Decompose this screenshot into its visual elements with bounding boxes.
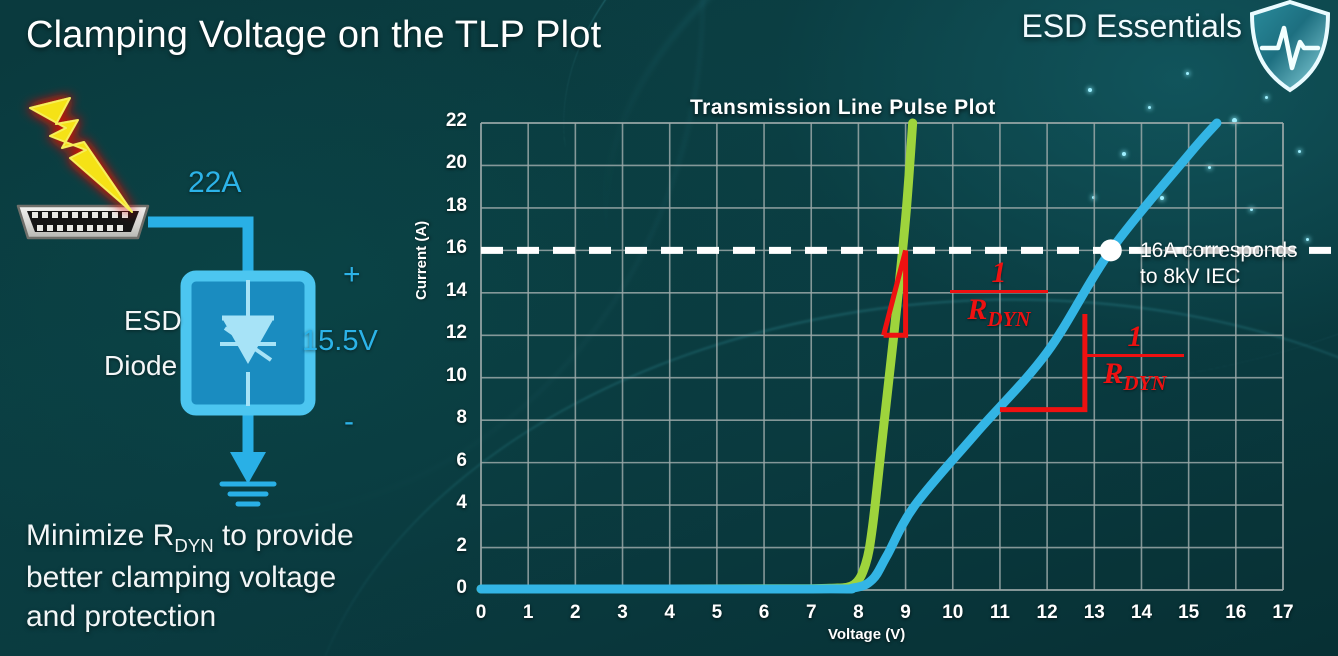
caption-line1-sub: DYN <box>174 535 213 556</box>
star-icon <box>1148 106 1151 109</box>
fraction-denominator-base: R <box>1103 357 1123 390</box>
x-tick-label: 2 <box>555 602 595 624</box>
x-tick-label: 5 <box>697 602 737 624</box>
x-tick-label: 14 <box>1121 602 1161 624</box>
fraction-numerator: 1 <box>950 258 1048 288</box>
background-swoosh-icon <box>522 0 1338 456</box>
x-tick-label: 1 <box>508 602 548 624</box>
series-curve <box>481 123 913 589</box>
x-tick-label: 11 <box>980 602 1020 624</box>
x-tick-label: 3 <box>603 602 643 624</box>
caption-line2: better clamping voltage <box>26 561 336 594</box>
slide-caption: Minimize RDYN to provide better clamping… <box>26 516 446 636</box>
slide-canvas: Clamping Voltage on the TLP Plot ESD Ess… <box>0 0 1338 656</box>
voltage-label: 15.5V <box>302 325 378 358</box>
annotation-16a-line2: to 8kV IEC <box>1140 264 1338 290</box>
star-icon <box>1250 208 1253 211</box>
caption-line1-post: to provide <box>214 519 354 552</box>
y-tick-label: 10 <box>419 365 467 387</box>
slope-bracket-green <box>884 250 906 335</box>
x-tick-label: 13 <box>1074 602 1114 624</box>
background-swoosh-glow-icon <box>548 0 1338 593</box>
caption-line3: and protection <box>26 600 216 633</box>
annotation-16a-line1: 16A corresponds <box>1140 238 1338 264</box>
fraction-bar <box>950 290 1048 293</box>
y-tick-label: 22 <box>419 110 467 132</box>
fraction-numerator: 1 <box>1086 322 1184 352</box>
y-tick-label: 6 <box>419 450 467 472</box>
y-tick-label: 20 <box>419 152 467 174</box>
x-tick-label: 4 <box>650 602 690 624</box>
caption-line1-pre: Minimize R <box>26 519 174 552</box>
x-tick-label: 16 <box>1216 602 1256 624</box>
hdmi-connector-icon <box>18 206 148 238</box>
x-tick-label: 6 <box>744 602 784 624</box>
y-tick-label: 16 <box>419 237 467 259</box>
polarity-minus-label: - <box>344 405 354 439</box>
lightning-bolt-icon <box>30 98 132 212</box>
x-tick-label: 15 <box>1169 602 1209 624</box>
marker-point-16a <box>1100 239 1122 261</box>
x-tick-label: 0 <box>461 602 501 624</box>
polarity-plus-label: + <box>343 258 361 292</box>
star-icon <box>1186 72 1189 75</box>
y-tick-label: 12 <box>419 322 467 344</box>
current-arrow-icon <box>230 452 266 484</box>
slope-annotation-blue: 1 RDYN <box>1086 322 1184 394</box>
current-label: 22A <box>188 166 241 200</box>
y-tick-label: 4 <box>419 492 467 514</box>
chart-title: Transmission Line Pulse Plot <box>690 96 996 120</box>
x-tick-label: 8 <box>838 602 878 624</box>
x-tick-label: 10 <box>933 602 973 624</box>
brand-title: ESD Essentials <box>1021 8 1242 45</box>
fraction-denominator-sub: DYN <box>987 307 1030 331</box>
fraction-denominator: RDYN <box>950 294 1048 330</box>
star-icon <box>1208 166 1211 169</box>
slope-annotation-green: 1 RDYN <box>950 258 1048 330</box>
y-tick-label: 2 <box>419 535 467 557</box>
x-tick-label: 12 <box>1027 602 1067 624</box>
star-icon <box>1088 88 1092 92</box>
star-icon <box>1298 150 1301 153</box>
star-icon <box>1232 118 1237 123</box>
x-tick-label: 17 <box>1263 602 1303 624</box>
device-label-line2: Diode <box>104 350 177 382</box>
fraction-denominator-base: R <box>967 293 987 326</box>
y-tick-label: 0 <box>419 577 467 599</box>
x-axis-label: Voltage (V) <box>828 626 905 643</box>
x-tick-label: 9 <box>886 602 926 624</box>
fraction-bar <box>1086 354 1184 357</box>
y-tick-label: 14 <box>419 280 467 302</box>
ground-icon <box>222 484 274 504</box>
y-tick-label: 18 <box>419 195 467 217</box>
x-tick-label: 7 <box>791 602 831 624</box>
shield-heartbeat-icon <box>1244 0 1336 94</box>
annotation-16a-note: 16A corresponds to 8kV IEC <box>1140 238 1338 291</box>
page-title: Clamping Voltage on the TLP Plot <box>26 14 601 57</box>
fraction-denominator-sub: DYN <box>1123 371 1166 395</box>
fraction-denominator: RDYN <box>1086 358 1184 394</box>
star-icon <box>1092 196 1095 199</box>
y-tick-label: 8 <box>419 407 467 429</box>
device-label-line1: ESD <box>124 305 182 337</box>
star-icon <box>1122 152 1126 156</box>
star-icon <box>1160 196 1164 200</box>
star-icon <box>1265 96 1268 99</box>
